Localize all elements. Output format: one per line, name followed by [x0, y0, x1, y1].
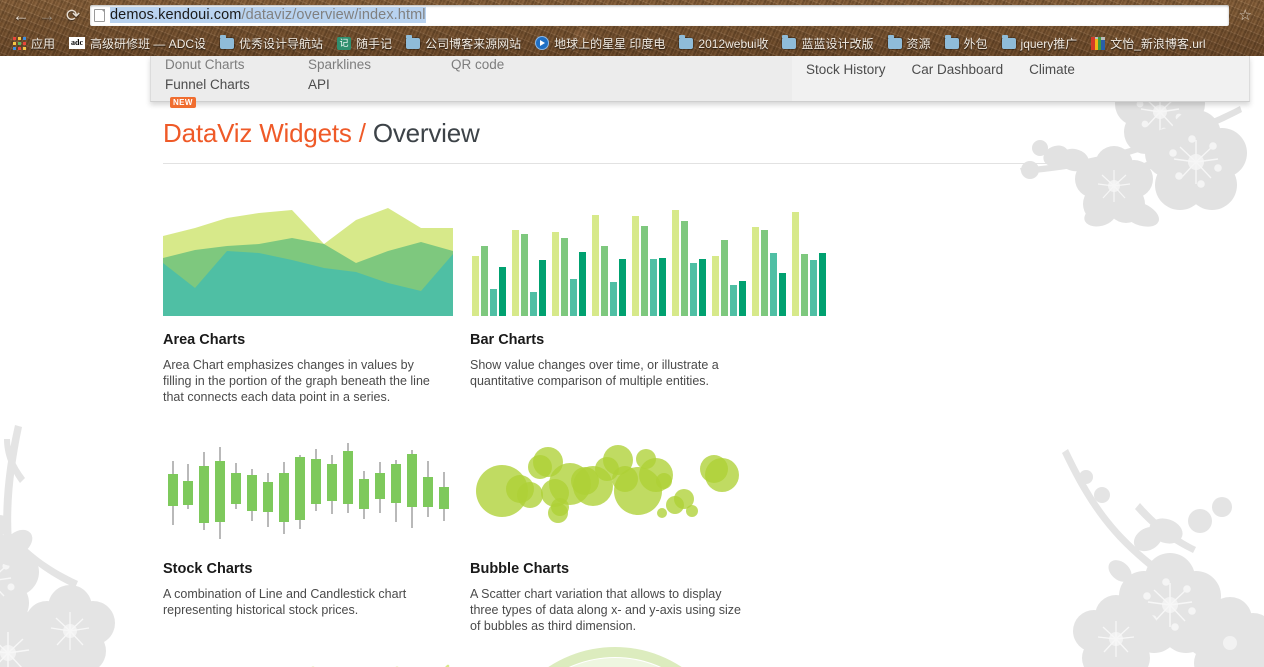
menu-item-label: Funnel Charts: [165, 77, 250, 92]
menu-item-donut-charts[interactable]: Donut Charts: [165, 56, 280, 74]
sina-blog-icon: [1091, 37, 1105, 50]
folder-icon: [679, 38, 693, 49]
address-bar[interactable]: demos.kendoui.com/dataviz/overview/index…: [90, 5, 1229, 26]
bookmark-label: 资源: [907, 35, 931, 52]
mega-menu: Donut Charts Funnel ChartsNEW Sparklines…: [0, 56, 1264, 102]
note-icon: 记: [337, 37, 351, 50]
folder-icon: [406, 38, 420, 49]
menu-item-stock-history[interactable]: Stock History: [806, 62, 886, 77]
candle-wicks: [173, 443, 444, 539]
card-title: Bar Charts: [470, 332, 777, 348]
bookmark-note[interactable]: 记 随手记: [330, 33, 399, 53]
back-arrow-icon[interactable]: ←: [8, 2, 34, 28]
card-description: A combination of Line and Candlestick ch…: [163, 586, 441, 618]
donut-chart-svg: [470, 646, 760, 667]
bar-group-4: [592, 215, 626, 316]
bar-group-8: [712, 240, 746, 316]
bookmark-label: 应用: [31, 35, 55, 52]
url-text: demos.kendoui.com/dataviz/overview/index…: [110, 7, 426, 23]
play-circle-icon: [535, 36, 549, 50]
bookmark-label: 文怡_新浪博客.url: [1110, 35, 1205, 52]
line-chart-thumbnail[interactable]: [163, 658, 453, 667]
bubble-chart-svg: [470, 429, 760, 545]
bookmark-label: jquery推广: [1021, 35, 1078, 52]
mega-menu-demos-section: Stock History Car Dashboard Climate: [792, 56, 1249, 101]
adc-icon: adc: [69, 37, 85, 49]
bookmark-label: 高级研修班 — ADC设: [90, 35, 206, 52]
stock-chart-thumbnail[interactable]: [163, 429, 453, 545]
card-description: Show value changes over time, or illustr…: [470, 357, 748, 389]
bar-group-2: [512, 230, 546, 316]
card-stock-charts[interactable]: Stock Charts A combination of Line and C…: [163, 429, 470, 634]
bookmark-company-blog[interactable]: 公司博客来源网站: [399, 33, 528, 53]
menu-item-qr-code[interactable]: QR code: [451, 56, 623, 74]
widget-grid: Area Charts Area Chart emphasizes change…: [163, 200, 1083, 667]
browser-chrome: ← → ⟳ demos.kendoui.com/dataviz/overview…: [0, 0, 1264, 56]
folder-icon: [782, 38, 796, 49]
card-description: A Scatter chart variation that allows to…: [470, 586, 748, 634]
menu-item-funnel-charts[interactable]: Funnel ChartsNEW: [165, 76, 280, 112]
bookmark-sina-blog[interactable]: 文怡_新浪博客.url: [1084, 33, 1212, 53]
bar-group-10: [792, 212, 826, 316]
bar-group-6: [672, 210, 706, 316]
page-body: DataViz Widgets / Overview Area Charts A…: [0, 102, 1264, 667]
page-content: DataViz Widgets / Overview Area Charts A…: [163, 118, 1063, 667]
folder-icon: [888, 38, 902, 49]
bar-group-9: [752, 227, 786, 316]
area-chart-thumbnail[interactable]: [163, 200, 453, 316]
reload-icon[interactable]: ⟳: [60, 2, 86, 28]
bookmark-label: 随手记: [356, 35, 392, 52]
mega-menu-spacer: [637, 56, 792, 101]
bar-group-1: [472, 246, 506, 316]
menu-item-sparklines[interactable]: Sparklines: [308, 56, 423, 74]
card-donut-charts[interactable]: Donut Charts Donut chart is a Pie chart …: [470, 658, 777, 667]
page-title-section: Overview: [373, 118, 480, 148]
blossom-branch-bottom-left-icon: [0, 417, 160, 667]
card-bubble-charts[interactable]: Bubble Charts A Scatter chart variation …: [470, 429, 777, 634]
bookmark-label: 优秀设计导航站: [239, 35, 323, 52]
bookmark-outsource[interactable]: 外包: [938, 33, 995, 53]
browser-nav-row: ← → ⟳ demos.kendoui.com/dataviz/overview…: [0, 0, 1264, 30]
page-title-separator: /: [359, 118, 366, 148]
line-chart-svg: [163, 658, 453, 667]
mega-menu-column-qr: QR code: [437, 56, 637, 101]
area-chart-svg: [163, 200, 453, 316]
card-line-charts[interactable]: Line Charts Show trends in data over reg…: [163, 658, 470, 667]
card-bar-charts[interactable]: Bar Charts Show value changes over time,…: [470, 200, 777, 405]
bookmarks-bar: 应用 adc 高级研修班 — ADC设 优秀设计导航站 记 随手记 公司博客来源…: [0, 30, 1264, 56]
forward-arrow-icon[interactable]: →: [34, 2, 60, 28]
bookmark-adc[interactable]: adc 高级研修班 — ADC设: [62, 33, 213, 53]
bookmark-movie[interactable]: 地球上的星星 印度电: [528, 33, 672, 53]
bar-group-5: [632, 216, 666, 316]
url-path: /dataviz/overview/index.html: [241, 7, 425, 23]
card-title: Bubble Charts: [470, 561, 777, 577]
bubble-points: [476, 445, 739, 523]
mega-menu-column-charts: Donut Charts Funnel ChartsNEW: [151, 56, 294, 101]
bar-chart-thumbnail[interactable]: [470, 200, 760, 316]
donut-rings: [499, 652, 731, 667]
mega-menu-column-misc: Sparklines API: [294, 56, 437, 101]
bookmark-design-nav[interactable]: 优秀设计导航站: [213, 33, 330, 53]
new-badge: NEW: [170, 97, 196, 108]
folder-icon: [220, 38, 234, 49]
card-title: Stock Charts: [163, 561, 470, 577]
bookmark-apps[interactable]: 应用: [6, 33, 62, 53]
folder-icon: [945, 38, 959, 49]
bubble-chart-thumbnail[interactable]: [470, 429, 760, 545]
candle-bodies: [168, 451, 449, 523]
card-title: Area Charts: [163, 332, 470, 348]
bookmark-jquery[interactable]: jquery推广: [995, 33, 1085, 53]
url-host: demos.kendoui.com: [110, 7, 241, 23]
bookmark-star-icon[interactable]: ☆: [1235, 6, 1256, 24]
candlestick-chart-svg: [163, 429, 453, 545]
mega-menu-panel: Donut Charts Funnel ChartsNEW Sparklines…: [150, 56, 1250, 102]
card-description: Area Chart emphasizes changes in values …: [163, 357, 441, 405]
donut-chart-thumbnail[interactable]: [470, 646, 760, 667]
page-title: DataViz Widgets / Overview: [163, 118, 1053, 164]
bar-group-3: [552, 232, 586, 316]
bookmark-resources[interactable]: 资源: [881, 33, 938, 53]
bar-chart-svg: [470, 200, 760, 316]
folder-icon: [1002, 38, 1016, 49]
bookmark-2012webui[interactable]: 2012webui收: [672, 33, 775, 53]
bookmark-label: 外包: [964, 35, 988, 52]
bookmark-label: 公司博客来源网站: [425, 35, 521, 52]
page-document-icon: [94, 9, 105, 22]
bookmark-lanlan[interactable]: 蓝蓝设计改版: [775, 33, 880, 53]
menu-item-car-dashboard[interactable]: Car Dashboard: [912, 62, 1004, 77]
bookmark-label: 2012webui收: [698, 35, 768, 52]
card-area-charts[interactable]: Area Charts Area Chart emphasizes change…: [163, 200, 470, 405]
apps-grid-icon: [13, 37, 26, 50]
menu-item-climate[interactable]: Climate: [1029, 62, 1075, 77]
menu-item-api[interactable]: API: [308, 76, 423, 94]
bookmark-label: 地球上的星星 印度电: [554, 35, 665, 52]
bookmark-label: 蓝蓝设计改版: [801, 35, 873, 52]
page-title-brand: DataViz Widgets: [163, 118, 352, 148]
